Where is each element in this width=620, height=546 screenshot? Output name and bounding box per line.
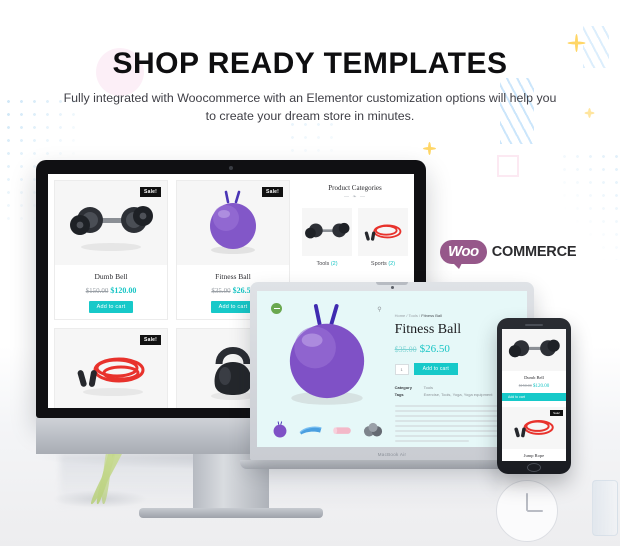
macbook-notch: [376, 282, 408, 285]
macbook-model-label: MacBook Air: [250, 452, 534, 457]
category-label: Tools (2): [302, 261, 352, 267]
breadcrumb-category[interactable]: Tools: [409, 313, 418, 318]
mobile-product-name: Jump Rope: [502, 453, 566, 458]
dumbbell-icon: [68, 192, 154, 254]
sparkle-icon-3: [584, 108, 594, 118]
breadcrumb-home[interactable]: Home: [395, 313, 406, 318]
macbook-lid: ⚲: [250, 282, 534, 460]
camera-icon: [391, 286, 394, 289]
quantity-stepper[interactable]: 1: [395, 364, 409, 375]
product-card[interactable]: Sale!: [54, 328, 168, 408]
page-title: SHOP READY TEMPLATES: [0, 47, 620, 81]
towel-icon: [298, 422, 324, 438]
breadcrumb-current: Fitness Ball: [421, 313, 442, 318]
category-key: Category: [395, 385, 417, 390]
product-hero-image[interactable]: [269, 301, 385, 409]
woocommerce-logo: Woo COMMERCE: [440, 240, 576, 264]
price-old: $35.00: [211, 287, 230, 295]
glass-decoration: [592, 480, 618, 536]
home-button[interactable]: [527, 463, 541, 472]
weights-icon: [362, 421, 384, 439]
category-name: Tools: [316, 261, 329, 267]
add-to-cart-button[interactable]: Add to cart: [89, 301, 134, 313]
jump-rope-icon: [359, 216, 407, 248]
product-name: Fitness Ball: [177, 272, 289, 281]
towel-icon: [330, 422, 356, 438]
sale-badge: Sale!: [550, 410, 563, 416]
category-count: (2): [331, 261, 338, 267]
mobile-product-image-jump-rope[interactable]: Sale!: [502, 407, 566, 449]
jump-rope-icon: [508, 411, 560, 445]
price-old: $150.00: [86, 287, 109, 295]
category-label: Sports (2): [358, 261, 408, 267]
product-thumbnails: [269, 413, 385, 443]
mobile-product-image-dumbbell[interactable]: [502, 329, 566, 371]
jump-rope-icon: [67, 342, 155, 400]
fitness-ball-icon: [198, 188, 268, 258]
sidebar-divider: — ❧ —: [302, 194, 408, 200]
iphone-screen: Dumb Bell $150.00 $120.00 Add to cart Sa…: [502, 329, 566, 461]
product-name: Dumb Bell: [55, 272, 167, 281]
category-grid: Tools (2): [302, 208, 408, 267]
dumbbell-icon: [304, 215, 350, 249]
iphone-body: Dumb Bell $150.00 $120.00 Add to cart Sa…: [497, 318, 571, 474]
price-new: $120.00: [110, 286, 136, 295]
mobile-product-name: Dumb Bell: [502, 375, 566, 380]
page-subtitle: Fully integrated with Woocommerce with a…: [60, 90, 560, 126]
thumbnail-towel-blue[interactable]: [298, 417, 324, 443]
product-detail-page: ⚲: [257, 291, 527, 447]
category-image-sports: [358, 208, 408, 256]
fitness-ball-icon: [271, 418, 289, 442]
iphone-device: Dumb Bell $150.00 $120.00 Add to cart Sa…: [497, 318, 571, 474]
tags-value[interactable]: Exercise, Tools, Yoga, Yoga equipment: [424, 392, 493, 397]
thumbnail-towel-pink[interactable]: [330, 417, 356, 443]
mobile-product-price: $150.00 $120.00: [502, 383, 566, 389]
product-price: $150.00$120.00: [55, 286, 167, 295]
dumbbell-icon: [507, 331, 561, 369]
product-card[interactable]: Sale!: [54, 180, 168, 320]
category-image-tools: [302, 208, 352, 256]
product-gallery: ⚲: [269, 301, 385, 437]
price-old: $150.00: [519, 383, 532, 388]
wall-clock-decoration: [496, 480, 558, 542]
woo-wordmark: COMMERCE: [492, 244, 577, 260]
sale-badge: Sale!: [140, 187, 161, 197]
sale-badge: Sale!: [262, 187, 283, 197]
category-item-tools[interactable]: Tools (2): [302, 208, 352, 267]
category-item-sports[interactable]: Sports (2): [358, 208, 408, 267]
promo-banner: SHOP READY TEMPLATES Fully integrated wi…: [0, 0, 620, 546]
price-new: $26.50: [420, 343, 450, 355]
woo-mark: Woo: [440, 240, 487, 264]
mobile-add-to-cart-button[interactable]: Add to cart: [502, 393, 566, 401]
macbook-screen: ⚲: [257, 291, 527, 447]
pink-square-decoration: [497, 155, 519, 177]
speaker-icon: [525, 324, 543, 326]
tags-key: Tags: [395, 392, 417, 397]
macbook-device: ⚲: [250, 282, 534, 469]
imac-stand-foot: [139, 508, 323, 518]
category-value[interactable]: Tools: [424, 385, 433, 390]
camera-icon: [229, 166, 233, 170]
thumbnail-fitness-ball[interactable]: [269, 417, 292, 443]
sparkle-icon-2: [423, 142, 436, 155]
fitness-ball-icon: [275, 299, 379, 411]
sale-badge-circle: [271, 303, 282, 314]
thumbnail-weights-grey[interactable]: [362, 417, 385, 443]
add-to-cart-button[interactable]: Add to cart: [211, 301, 256, 313]
search-icon[interactable]: ⚲: [377, 306, 381, 313]
price-old: $35.00: [395, 345, 417, 354]
add-to-cart-button[interactable]: Add to cart: [414, 363, 458, 375]
category-name: Sports: [371, 261, 387, 267]
price-new: $120.00: [533, 384, 549, 389]
sale-badge: Sale!: [140, 335, 161, 345]
category-count: (2): [388, 261, 395, 267]
sidebar-title: Product Categories: [302, 184, 408, 192]
